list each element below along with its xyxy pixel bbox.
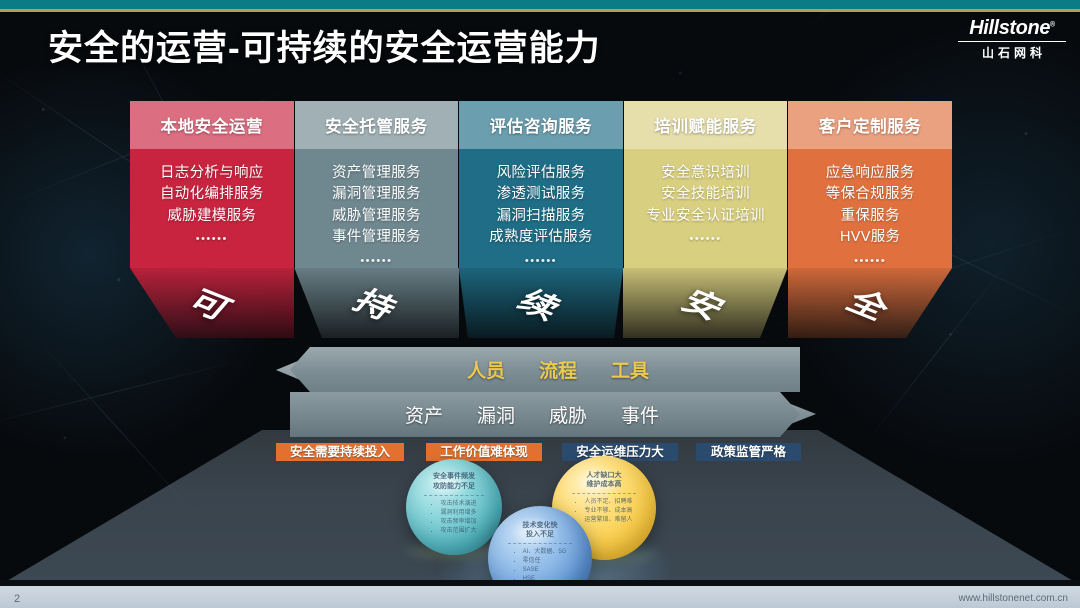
funnel-segment-1: 可 — [130, 268, 294, 338]
service-panel-title: 安全托管服务 — [295, 101, 459, 149]
slide-canvas: 安全的运营-可持续的安全运营能力 Hillstone® 山石网科 本地安全运营日… — [0, 0, 1080, 608]
funnel-segment-4: 安 — [623, 268, 787, 338]
arrow-bottom-label: 资产 — [405, 401, 443, 428]
arrow-bottom-label: 漏洞 — [477, 401, 515, 428]
pain-point-tag-4[interactable]: 政策监管严格 — [696, 443, 801, 461]
service-panels: 本地安全运营日志分析与响应自动化编排服务威胁建模服务••••••安全托管服务资产… — [130, 101, 952, 268]
logo-trademark-icon: ® — [1050, 21, 1055, 28]
service-item: 专业安全认证培训 — [646, 206, 764, 227]
service-item: 漏洞管理服务 — [332, 184, 421, 205]
service-panel-items: 日志分析与响应自动化编排服务威胁建模服务•••••• — [130, 149, 294, 268]
service-panel-1[interactable]: 本地安全运营日志分析与响应自动化编排服务威胁建模服务•••••• — [130, 101, 294, 268]
service-panel-title: 本地安全运营 — [130, 101, 294, 149]
top-teal-band — [0, 0, 1080, 9]
brand-logo: Hillstone® 山石网科 — [958, 18, 1066, 61]
logo-chinese-name: 山石网科 — [958, 44, 1066, 61]
arrow-top-labels: 人员流程工具 — [290, 347, 800, 392]
funnel-segment-3: 续 — [459, 268, 623, 338]
arrow-top-label: 流程 — [539, 356, 577, 383]
service-panel-ellipsis: •••••• — [196, 231, 228, 247]
sphere-security-incidents: 安全事件频发 攻防能力不足 攻击技术演进漏洞利用增多攻击频率增加攻击范围扩大 — [406, 459, 502, 555]
service-item: 安全技能培训 — [661, 184, 750, 205]
service-item: 渗透测试服务 — [497, 184, 586, 205]
service-item: 安全意识培训 — [661, 163, 750, 184]
sphere-blue-highlight — [511, 516, 559, 547]
footer-page-number: 2 — [14, 593, 20, 605]
arrow-top-label: 人员 — [467, 356, 505, 383]
service-item: 自动化编排服务 — [160, 184, 264, 205]
funnel-segment-2: 持 — [294, 268, 458, 338]
arrow-row-top: 人员流程工具 — [290, 347, 800, 392]
service-item: 日志分析与响应 — [160, 163, 264, 184]
service-panel-4[interactable]: 培训赋能服务安全意识培训安全技能培训专业安全认证培训•••••• — [624, 101, 788, 268]
arrow-row-bottom: 资产漏洞威胁事件 — [290, 392, 800, 437]
arrow-top-label: 工具 — [611, 356, 649, 383]
top-gold-band — [0, 9, 1080, 12]
service-panel-ellipsis: •••••• — [525, 253, 557, 269]
service-panel-items: 安全意识培训安全技能培训专业安全认证培训•••••• — [624, 149, 788, 268]
pain-point-tag-1[interactable]: 安全需要持续投入 — [276, 443, 404, 461]
service-item: 资产管理服务 — [332, 163, 421, 184]
service-panel-items: 风险评估服务渗透测试服务漏洞扫描服务成熟度评估服务•••••• — [459, 149, 623, 268]
service-panel-ellipsis: •••••• — [360, 253, 392, 269]
service-item: 成熟度评估服务 — [489, 227, 593, 248]
service-panel-5[interactable]: 客户定制服务应急响应服务等保合规服务重保服务HVV服务•••••• — [788, 101, 952, 268]
service-panel-title: 评估咨询服务 — [459, 101, 623, 149]
arrow-bottom-labels: 资产漏洞威胁事件 — [290, 392, 800, 437]
service-item: 威胁建模服务 — [167, 206, 256, 227]
service-panel-3[interactable]: 评估咨询服务风险评估服务渗透测试服务漏洞扫描服务成熟度评估服务•••••• — [459, 101, 623, 268]
service-item: 漏洞扫描服务 — [497, 206, 586, 227]
logo-wordmark-text: Hillstone — [969, 17, 1050, 39]
service-panel-title: 客户定制服务 — [788, 101, 952, 149]
service-item: 威胁管理服务 — [332, 206, 421, 227]
service-panel-ellipsis: •••••• — [854, 253, 886, 269]
service-panel-items: 资产管理服务漏洞管理服务威胁管理服务事件管理服务•••••• — [295, 149, 459, 268]
service-panel-2[interactable]: 安全托管服务资产管理服务漏洞管理服务威胁管理服务事件管理服务•••••• — [295, 101, 459, 268]
service-panel-ellipsis: •••••• — [690, 231, 722, 247]
pain-point-tag-2[interactable]: 工作价值难体现 — [426, 443, 542, 461]
service-panel-title: 培训赋能服务 — [624, 101, 788, 149]
service-item: 重保服务 — [841, 206, 900, 227]
service-item: 等保合规服务 — [826, 184, 915, 205]
arrow-bands: 人员流程工具 资产漏洞威胁事件 — [290, 347, 800, 437]
service-item: HVV服务 — [840, 227, 900, 248]
service-item: 应急响应服务 — [826, 163, 915, 184]
sphere-yellow-highlight — [575, 466, 623, 497]
arrow-bottom-label: 事件 — [621, 401, 659, 428]
page-title: 安全的运营-可持续的安全运营能力 — [48, 20, 601, 71]
funnel-section: 可持续安全 — [130, 268, 952, 338]
logo-wordmark: Hillstone® — [958, 18, 1066, 39]
service-item: 风险评估服务 — [497, 163, 586, 184]
pain-point-tags: 安全需要持续投入工作价值难体现安全运维压力大政策监管严格 — [276, 443, 806, 461]
service-item: 事件管理服务 — [332, 227, 421, 248]
logo-divider — [958, 41, 1066, 42]
funnel-segment-5: 全 — [788, 268, 952, 338]
service-panel-items: 应急响应服务等保合规服务重保服务HVV服务•••••• — [788, 149, 952, 268]
arrow-bottom-label: 威胁 — [549, 401, 587, 428]
footer-website-url: www.hillstonenet.com.cn — [959, 593, 1069, 604]
footer-bar: 2 www.hillstonenet.com.cn — [0, 586, 1080, 608]
